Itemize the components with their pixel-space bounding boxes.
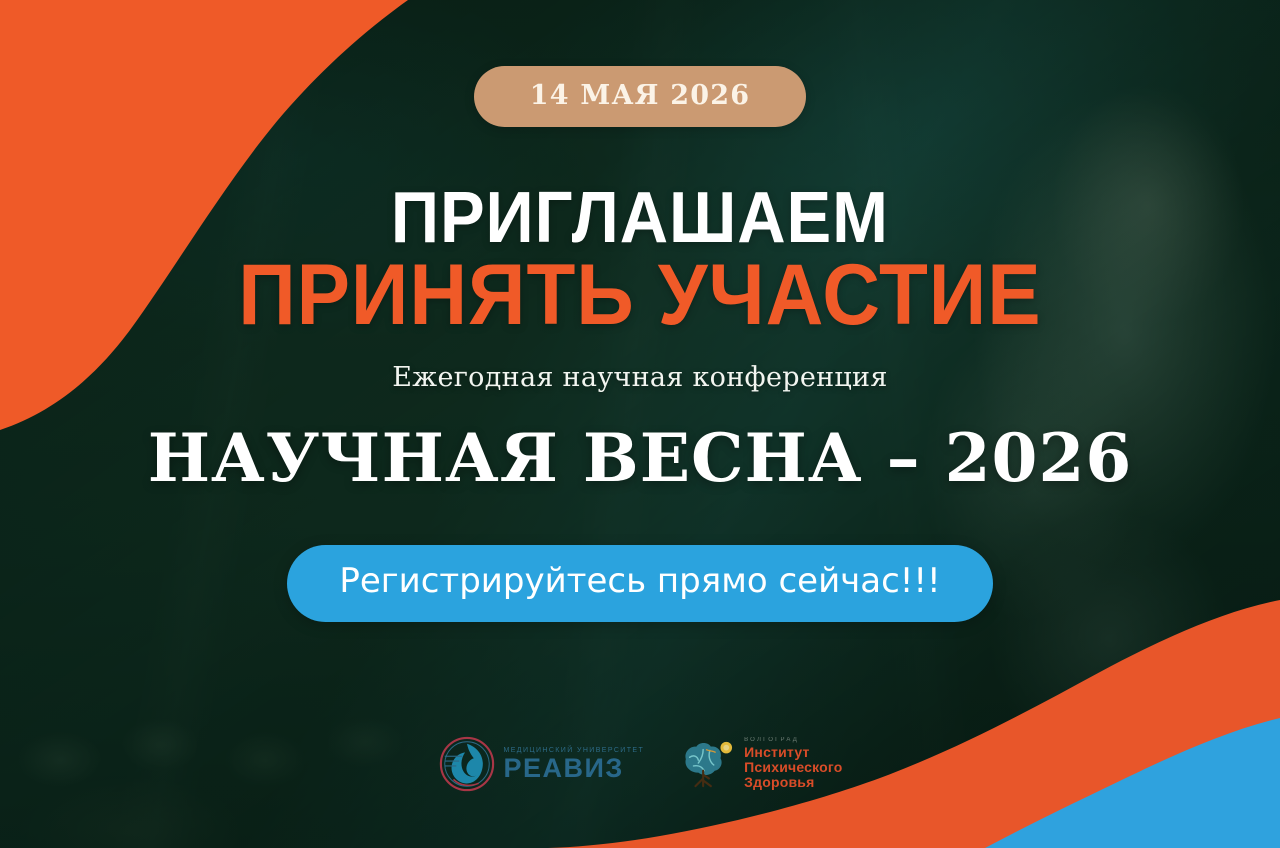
event-date-badge: 14 МАЯ 2026 (474, 66, 806, 127)
institute-logo: ВОЛГОГРАД Институт Психического Здоровья (678, 737, 842, 791)
reaviz-logo: МЕДИЦИНСКИЙ УНИВЕРСИТЕТ РЕАВИЗ (438, 735, 645, 793)
institute-wordmark: ВОЛГОГРАД Институт Психического Здоровья (744, 737, 842, 791)
event-title: НАУЧНАЯ ВЕСНА – 2026 (148, 419, 1133, 497)
conference-poster: 14 МАЯ 2026 ПРИГЛАШАЕМ ПРИНЯТЬ УЧАСТИЕ Е… (0, 0, 1280, 848)
reaviz-emblem-icon (438, 735, 496, 793)
reaviz-wordmark: МЕДИЦИНСКИЙ УНИВЕРСИТЕТ РЕАВИЗ (504, 747, 645, 782)
register-button[interactable]: Регистрируйтесь прямо сейчас!!! (287, 545, 992, 622)
event-subtitle: Ежегодная научная конференция (392, 362, 887, 393)
institute-line-3: Здоровья (744, 775, 842, 790)
institute-superscript: ВОЛГОГРАД (744, 737, 842, 744)
headline-block: ПРИГЛАШАЕМ ПРИНЯТЬ УЧАСТИЕ (208, 185, 1072, 336)
institute-line-2: Психического (744, 760, 842, 775)
reaviz-name: РЕАВИЗ (504, 756, 645, 782)
logo-strip: МЕДИЦИНСКИЙ УНИВЕРСИТЕТ РЕАВИЗ ВОЛГОГРАД… (0, 735, 1280, 793)
headline-line-1: ПРИГЛАШАЕМ (238, 185, 1041, 253)
poster-content: 14 МАЯ 2026 ПРИГЛАШАЕМ ПРИНЯТЬ УЧАСТИЕ Е… (0, 0, 1280, 848)
headline-line-2: ПРИНЯТЬ УЧАСТИЕ (238, 255, 1041, 336)
institute-line-1: Институт (744, 745, 842, 760)
brain-tree-icon (678, 738, 736, 790)
